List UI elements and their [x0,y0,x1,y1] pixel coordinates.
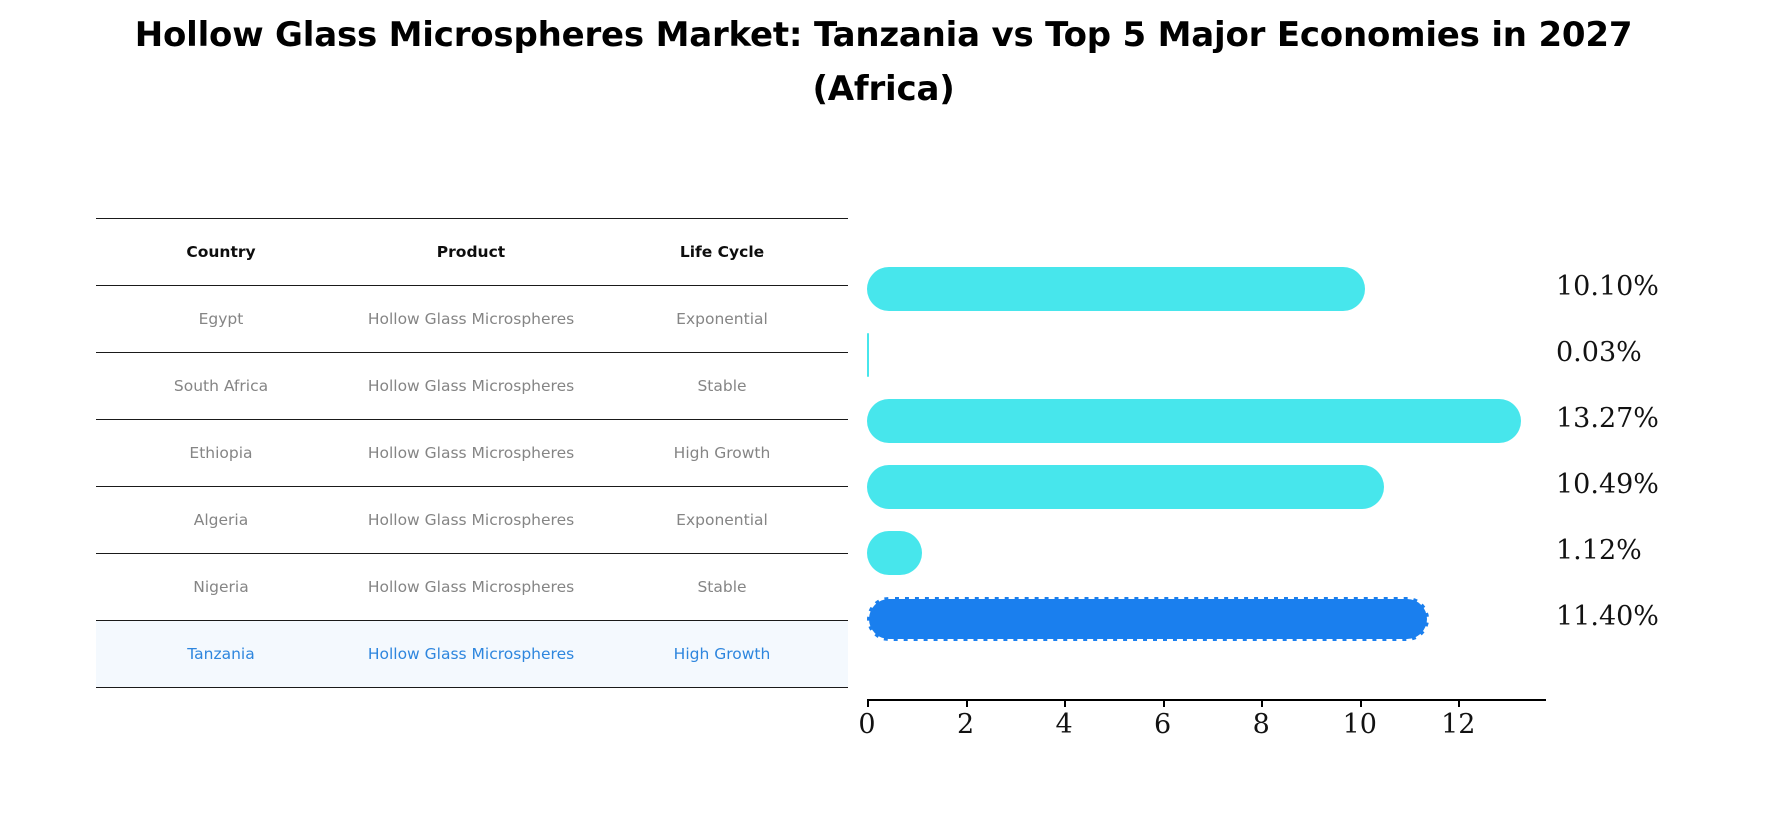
table-cell-country: Nigeria [96,554,346,621]
table-cell-country: Egypt [96,286,346,353]
x-axis-tick-label: 10 [1325,709,1395,740]
column-header-country: Country [96,219,346,286]
bar-value-label: 11.40% [1556,586,1756,652]
bar-value-label: 10.10% [1556,256,1756,322]
column-header-product: Product [346,219,596,286]
bar-egypt[interactable] [867,267,1365,311]
table-row: EgyptHollow Glass MicrospheresExponentia… [96,286,848,353]
table-row: South AfricaHollow Glass MicrospheresSta… [96,353,848,420]
table-cell-life-cycle: Stable [596,554,848,621]
bar-value-label: 10.49% [1556,454,1756,520]
bar-algeria[interactable] [867,465,1384,509]
table-cell-country: South Africa [96,353,346,420]
table-row: NigeriaHollow Glass MicrospheresStable [96,554,848,621]
bar-value-label: 0.03% [1556,322,1756,388]
bar-south-africa[interactable] [867,333,869,377]
table-cell-life-cycle: Stable [596,353,848,420]
bar-row [867,520,1547,586]
country-data-table: Country Product Life Cycle EgyptHollow G… [96,218,848,688]
x-axis-tick [1064,699,1066,707]
table-row: AlgeriaHollow Glass MicrospheresExponent… [96,487,848,554]
table-cell-product: Hollow Glass Microspheres [346,353,596,420]
table-cell-country: Ethiopia [96,420,346,487]
column-header-life-cycle: Life Cycle [596,219,848,286]
x-axis-tick-label: 0 [832,709,902,740]
bar-chart-plot-area [867,251,1547,699]
table-cell-product: Hollow Glass Microspheres [346,420,596,487]
bar-row [867,454,1547,520]
page-title-line-1: Hollow Glass Microspheres Market: Tanzan… [0,8,1767,62]
bar-row [867,322,1547,388]
x-axis-tick-label: 12 [1423,709,1493,740]
table-cell-life-cycle: High Growth [596,621,848,688]
table-body: EgyptHollow Glass MicrospheresExponentia… [96,286,848,688]
x-axis-line [867,699,1546,701]
x-axis-tick-label: 4 [1029,709,1099,740]
table-header: Country Product Life Cycle [96,219,848,286]
bar-row [867,586,1547,652]
table-header-row: Country Product Life Cycle [96,219,848,286]
x-axis-tick [966,699,968,707]
x-axis-tick-label: 8 [1226,709,1296,740]
table-cell-life-cycle: Exponential [596,286,848,353]
x-axis-tick [1458,699,1460,707]
x-axis-tick [1163,699,1165,707]
x-axis-tick [1360,699,1362,707]
x-axis-tick-label: 2 [931,709,1001,740]
table-cell-country: Tanzania [96,621,346,688]
page-title-line-2: (Africa) [0,62,1767,116]
x-axis-tick [867,699,869,707]
table-cell-life-cycle: High Growth [596,420,848,487]
x-axis-tick [1261,699,1263,707]
table-cell-product: Hollow Glass Microspheres [346,554,596,621]
bar-row [867,388,1547,454]
table-cell-product: Hollow Glass Microspheres [346,286,596,353]
table-cell-life-cycle: Exponential [596,487,848,554]
bar-tanzania[interactable] [867,597,1429,641]
table-cell-product: Hollow Glass Microspheres [346,487,596,554]
bar-value-label: 1.12% [1556,520,1756,586]
table-cell-country: Algeria [96,487,346,554]
x-axis-tick-label: 6 [1128,709,1198,740]
bar-nigeria[interactable] [867,531,922,575]
table-row: EthiopiaHollow Glass MicrospheresHigh Gr… [96,420,848,487]
bar-ethiopia[interactable] [867,399,1521,443]
page-title: Hollow Glass Microspheres Market: Tanzan… [0,8,1767,117]
table-row: TanzaniaHollow Glass MicrospheresHigh Gr… [96,621,848,688]
bar-row [867,256,1547,322]
table-cell-product: Hollow Glass Microspheres [346,621,596,688]
bar-value-label: 13.27% [1556,388,1756,454]
